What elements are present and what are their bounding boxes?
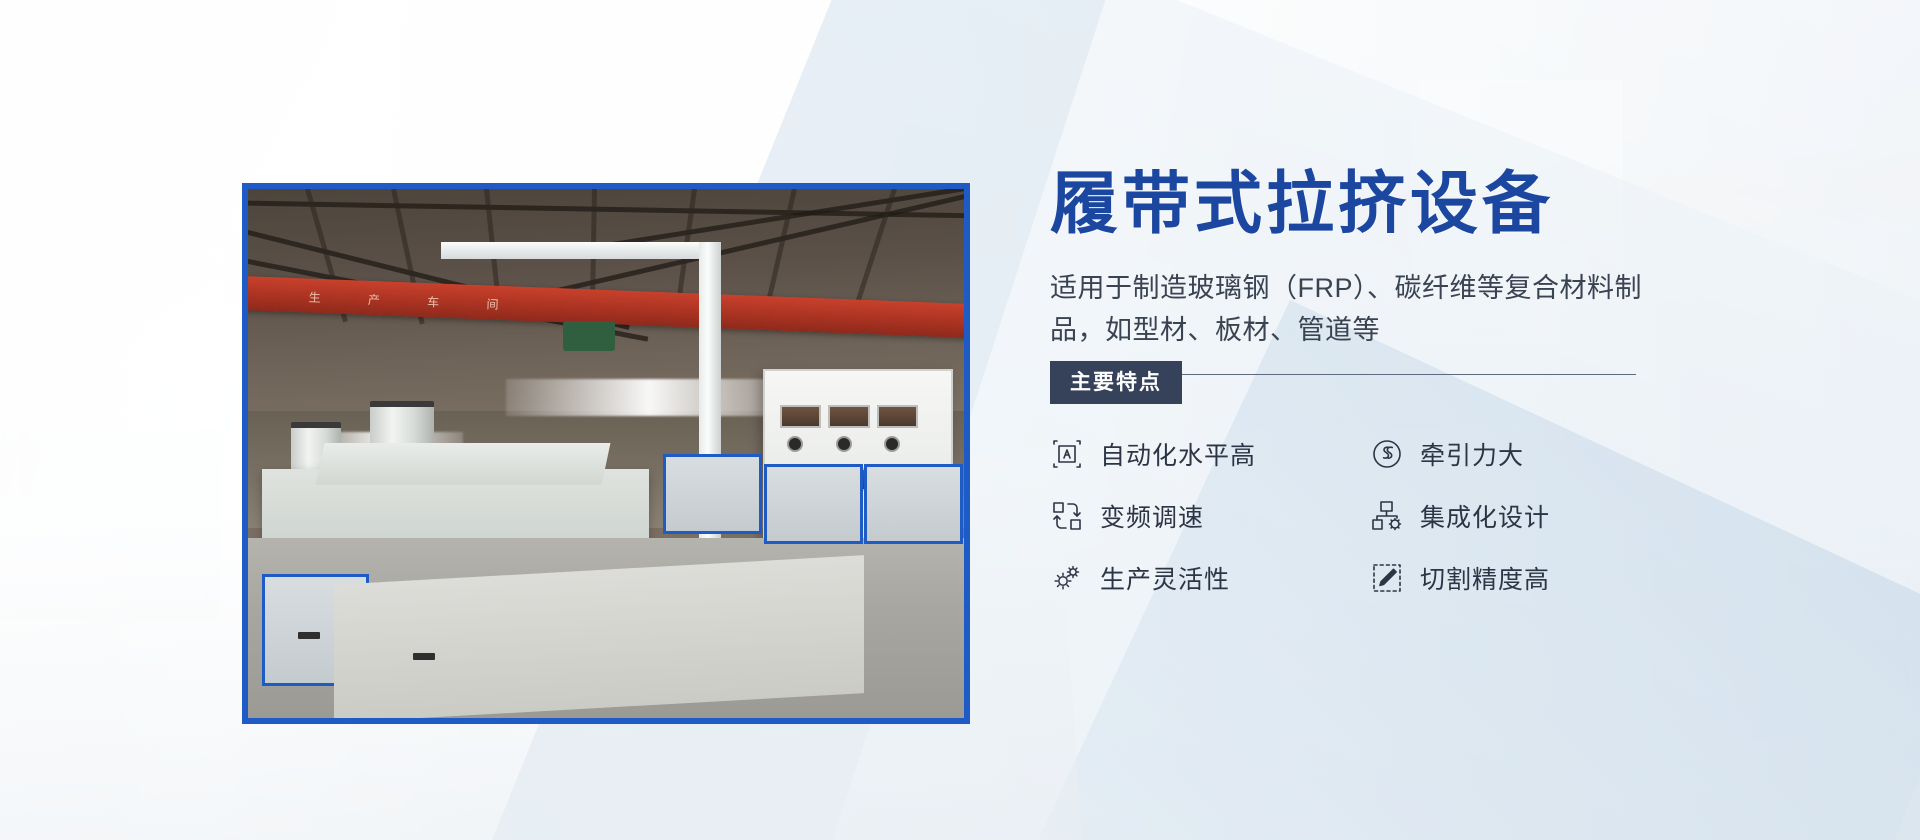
- frequency-transfer-icon: [1050, 499, 1084, 533]
- photo-beam-text: 生 产 车 间: [308, 288, 521, 313]
- photo-panel-meter: [877, 405, 918, 428]
- feature-item-precision: 切割精度高: [1370, 560, 1690, 596]
- photo-panel-knob: [836, 436, 852, 452]
- photo-machine-hood: [315, 443, 610, 485]
- product-photo: 生 产 车 间: [242, 183, 970, 724]
- feature-item-flexibility: 生产灵活性: [1050, 560, 1370, 596]
- product-banner: 生 产 车 间: [0, 0, 1920, 840]
- feature-label: 变频调速: [1100, 498, 1204, 534]
- photo-conveyor-table: [334, 555, 864, 718]
- photo-panel-meter: [828, 405, 869, 428]
- product-photo-inner: 生 产 车 间: [248, 189, 964, 718]
- photo-gantry-crossbar: [441, 242, 720, 259]
- features-badge: 主要特点: [1050, 361, 1182, 404]
- photo-panel-meter: [780, 405, 821, 428]
- feature-label: 集成化设计: [1420, 498, 1550, 534]
- photo-blue-cabinet: [663, 454, 762, 534]
- feature-item-frequency: 变频调速: [1050, 498, 1370, 534]
- photo-crane-hoist: [563, 321, 615, 351]
- photo-cabinet-handle: [298, 632, 320, 639]
- automation-square-a-icon: [1050, 437, 1084, 471]
- precision-pen-icon: [1370, 561, 1404, 595]
- banner-content: 履带式拉挤设备 适用于制造玻璃钢（FRP）、碳纤维等复合材料制品，如型材、板材、…: [1050, 168, 1690, 596]
- photo-window-light: [506, 379, 792, 416]
- divider-line: [1170, 374, 1636, 375]
- photo-blue-cabinet: [864, 464, 963, 544]
- feature-label: 自动化水平高: [1100, 436, 1256, 472]
- banner-title: 履带式拉挤设备: [1050, 168, 1690, 240]
- feature-label: 生产灵活性: [1100, 560, 1230, 596]
- feature-label: 牵引力大: [1420, 436, 1524, 472]
- feature-list: 自动化水平高 牵引力大: [1050, 436, 1690, 596]
- photo-panel-knob: [787, 436, 803, 452]
- gears-icon: [1050, 561, 1084, 595]
- integrated-design-icon: [1370, 499, 1404, 533]
- feature-item-traction: 牵引力大: [1370, 436, 1690, 472]
- traction-circle-icon: [1370, 437, 1404, 471]
- feature-item-integration: 集成化设计: [1370, 498, 1690, 534]
- photo-panel-knob: [884, 436, 900, 452]
- photo-cabinet-handle: [413, 653, 435, 660]
- feature-item-automation: 自动化水平高: [1050, 436, 1370, 472]
- banner-subtitle: 适用于制造玻璃钢（FRP）、碳纤维等复合材料制品，如型材、板材、管道等: [1050, 268, 1650, 352]
- feature-label: 切割精度高: [1420, 560, 1550, 596]
- photo-blue-cabinet: [764, 464, 863, 544]
